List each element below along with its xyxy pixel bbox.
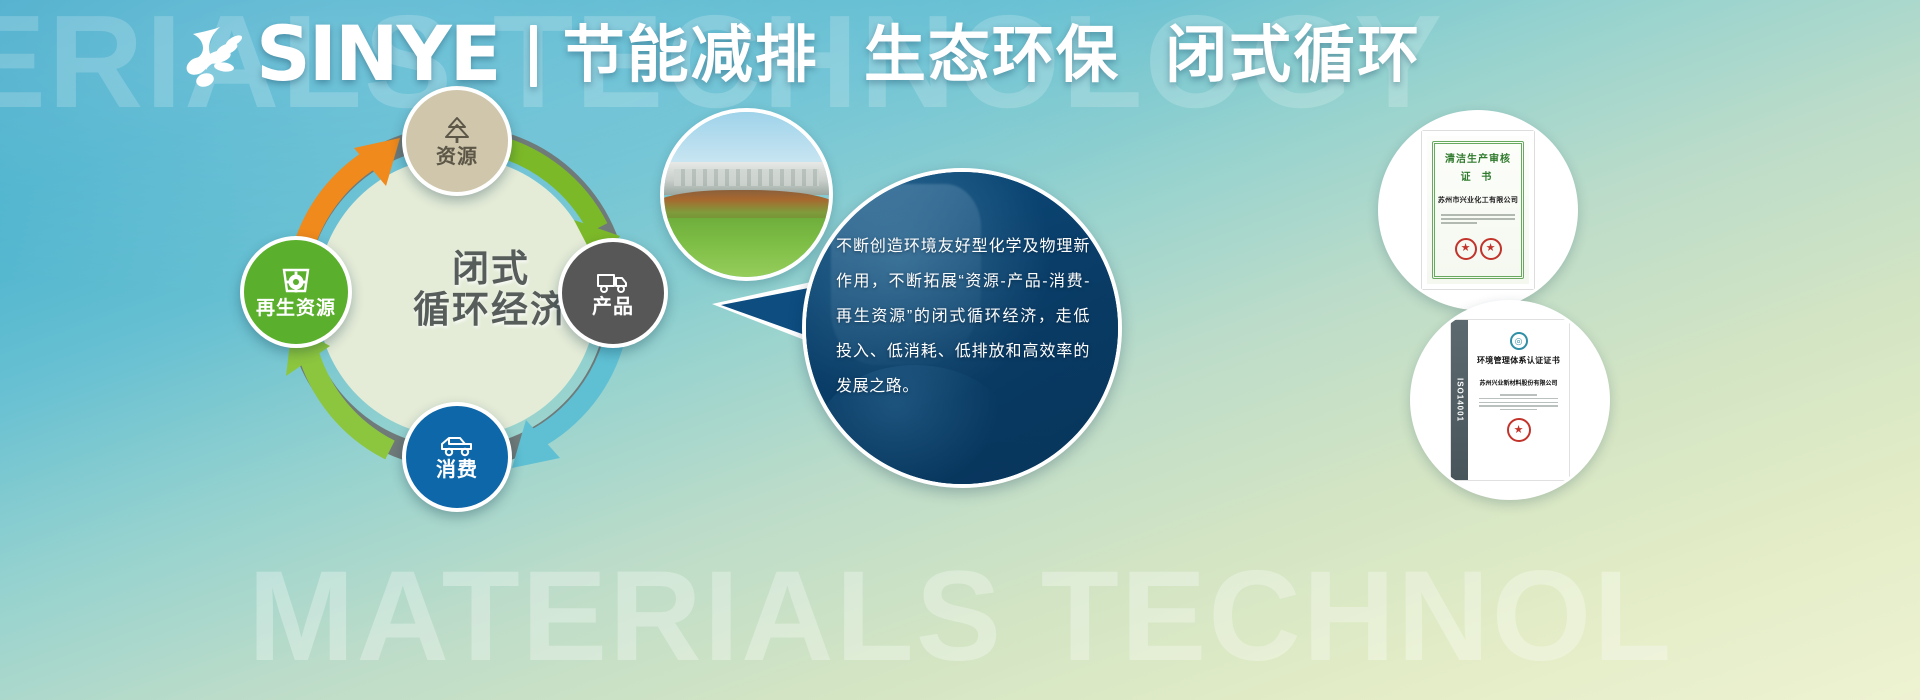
circular-economy-diagram: 闭式 循环经济 资源 [268, 108, 646, 486]
car-icon [438, 434, 476, 458]
slogan-segment-3: 闭式循环 [1165, 21, 1421, 90]
certificate-2-company: 苏州兴业新材料股份有限公司 [1475, 378, 1562, 387]
certificate-2-bodytext [1475, 394, 1562, 410]
headline-divider [530, 25, 537, 87]
certificate-1-seals: ★ ★ [1435, 238, 1521, 260]
diagram-node-resource[interactable]: 资源 [402, 86, 512, 196]
certificate-1-subtitle: 证 书 [1435, 168, 1521, 183]
certificate-2-seal: ★ [1507, 418, 1531, 442]
node-label-recycle: 再生资源 [256, 299, 336, 318]
certificate-1-seal-left: ★ [1455, 238, 1477, 260]
node-label-product: 产品 [592, 297, 634, 317]
water-splash-icon [180, 21, 252, 91]
banner-headline: SINYE 节能减排 生态环保 闭式循环 [180, 18, 1421, 94]
certificate-2-title: 环境管理体系认证证书 [1475, 356, 1562, 366]
slogan-segment-2: 生态环保 [864, 21, 1120, 90]
recycle-gear-icon [279, 267, 313, 297]
certificate-2-body: ◎ 环境管理体系认证证书 苏州兴业新材料股份有限公司 ★ [1468, 320, 1569, 480]
tree-icon [441, 115, 473, 145]
certificate-2-spine: ISO14001 [1451, 320, 1468, 480]
ghost-text-bottom: MATERIALS TECHNOL [248, 543, 1673, 690]
diagram-node-recycle[interactable]: 再生资源 [240, 236, 352, 348]
slogan-group: 节能减排 生态环保 闭式循环 [563, 25, 1422, 87]
bubble-text: 不断创造环境友好型化学及物理新作用，不断拓展“资源-产品-消费-再生资源”的闭式… [836, 230, 1090, 404]
diagram-node-product[interactable]: 产品 [558, 238, 668, 348]
promo-banner: ERIALS TECHNOLOGY MATERIALS TECHNOL SINY… [0, 0, 1920, 700]
node-label-consume: 消费 [436, 460, 478, 480]
speech-bubble: 不断创造环境友好型化学及物理新作用，不断拓展“资源-产品-消费-再生资源”的闭式… [802, 168, 1122, 488]
node-label-resource: 资源 [436, 147, 478, 167]
certificate-1-company: 苏州市兴业化工有限公司 [1435, 195, 1521, 205]
cnas-logo-icon: ◎ [1510, 332, 1528, 350]
diagram-node-consume[interactable]: 消费 [402, 402, 512, 512]
speech-bubble-group: 不断创造环境友好型化学及物理新作用，不断拓展“资源-产品-消费-再生资源”的闭式… [712, 168, 1122, 518]
slogan-segment-1: 节能减排 [563, 21, 819, 90]
certificate-2-spine-text: ISO14001 [1455, 378, 1464, 422]
certificate-1-seal-right: ★ [1480, 238, 1502, 260]
certificate-2-paper: ISO14001 ◎ 环境管理体系认证证书 苏州兴业新材料股份有限公司 ★ [1451, 320, 1569, 480]
certificate-1-paper: 清洁生产审核 证 书 苏州市兴业化工有限公司 ★ ★ [1422, 131, 1534, 289]
truck-icon [595, 269, 631, 295]
certificate-clean-production[interactable]: 清洁生产审核 证 书 苏州市兴业化工有限公司 ★ ★ [1378, 110, 1578, 310]
brand-wordmark: SINYE [256, 16, 500, 92]
certificate-1-bodytext [1435, 214, 1521, 224]
certificate-1-title: 清洁生产审核 [1435, 152, 1521, 167]
certificate-iso14001[interactable]: ISO14001 ◎ 环境管理体系认证证书 苏州兴业新材料股份有限公司 ★ [1410, 300, 1610, 500]
